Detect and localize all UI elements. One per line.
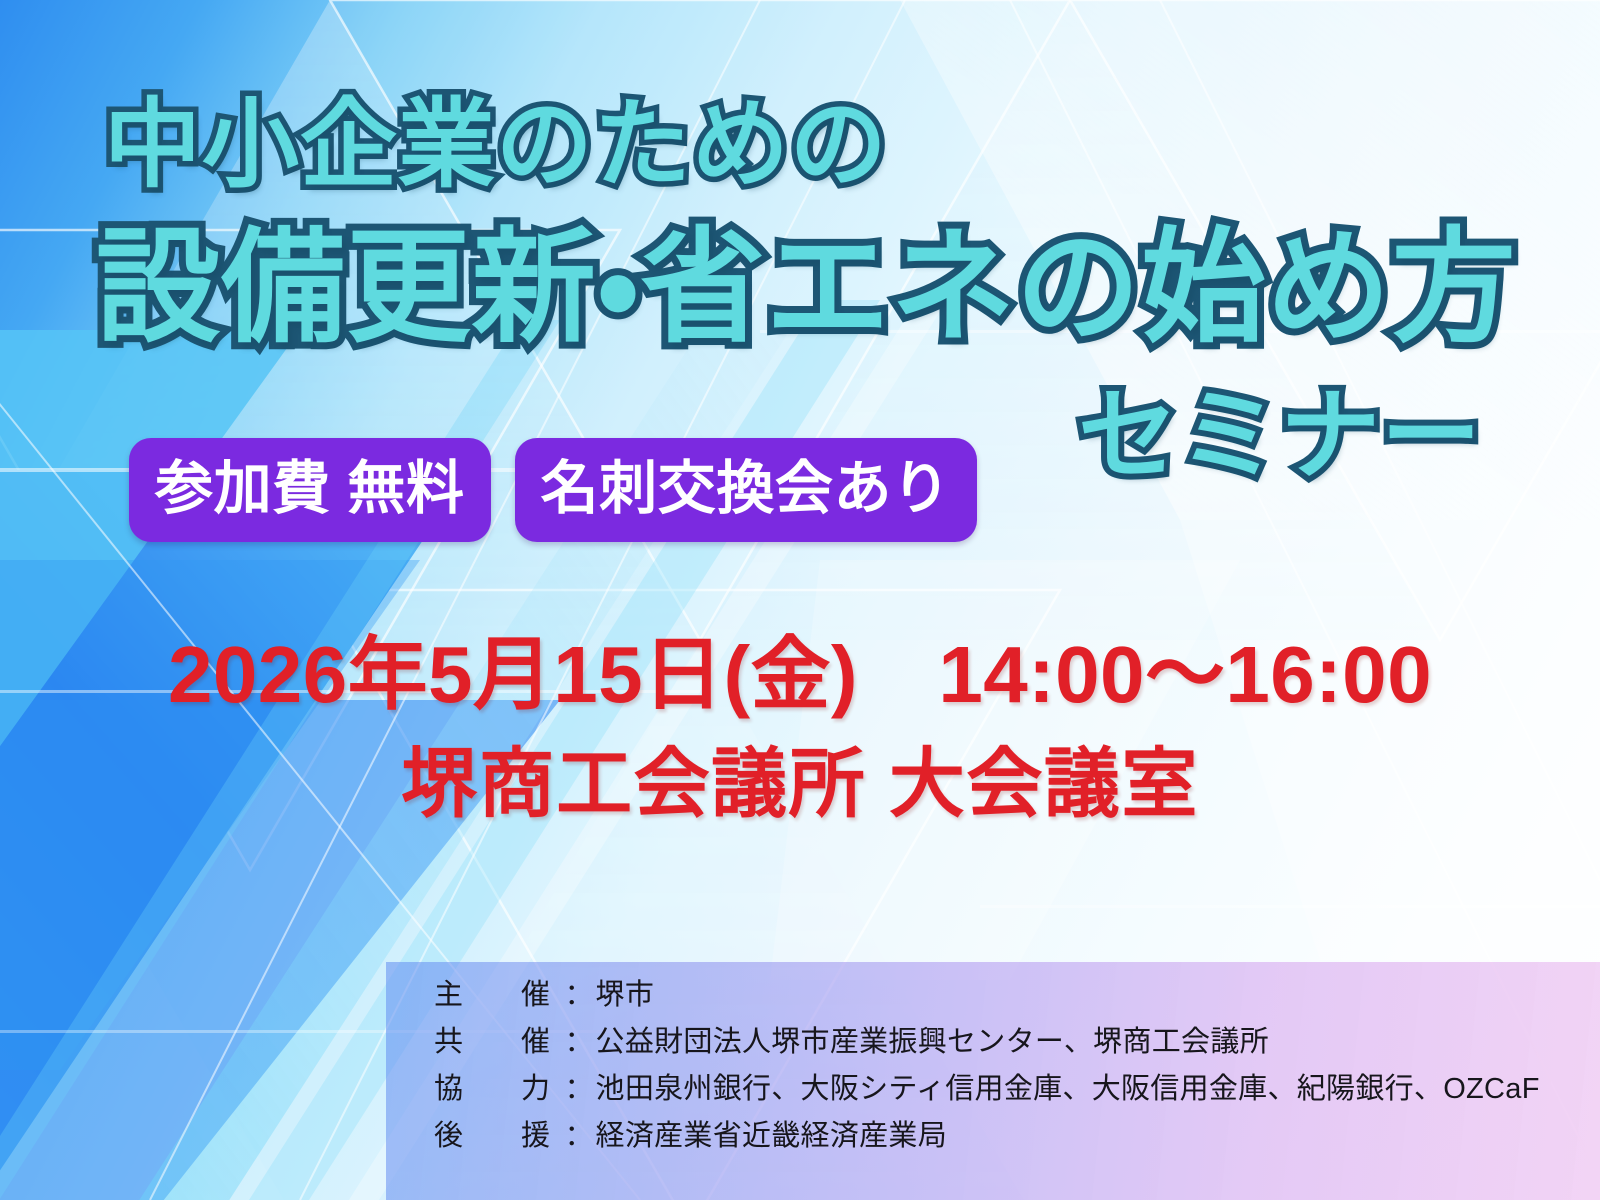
badge-fee-free: 参加費 無料 — [129, 438, 491, 542]
organizer-value: 公益財団法人堺市産業振興センター、堺商工会議所 — [596, 1019, 1269, 1066]
organizer-separator: ： — [565, 1113, 596, 1160]
organizer-label: 共 催 — [434, 1019, 565, 1066]
organizer-row-host: 主 催 ： 堺市 — [434, 972, 1594, 1019]
event-details: 2026年5月15日(金) 14:00〜16:00 堺商工会議所 大会議室 — [0, 630, 1600, 827]
title-line-3: セミナー — [1078, 386, 1482, 486]
title-line-2: 設備更新・省エネの始め方 — [96, 226, 1517, 350]
organizer-label: 主 催 — [434, 972, 565, 1019]
organizer-separator: ： — [565, 1019, 596, 1066]
title-line-1: 中小企業のための — [104, 96, 888, 193]
organizer-row-cohost: 共 催 ： 公益財団法人堺市産業振興センター、堺商工会議所 — [434, 1019, 1594, 1066]
organizer-list: 主 催 ： 堺市 共 催 ： 公益財団法人堺市産業振興センター、堺商工会議所 協… — [434, 972, 1594, 1160]
organizer-row-support: 後 援 ： 経済産業省近畿経済産業局 — [434, 1113, 1594, 1160]
seminar-poster: 中小企業のための 設備更新・省エネの始め方 セミナー 参加費 無料 名刺交換会あ… — [0, 0, 1600, 1200]
organizer-label: 協 力 — [434, 1066, 565, 1113]
event-datetime: 2026年5月15日(金) 14:00〜16:00 — [0, 630, 1600, 720]
organizer-label: 後 援 — [434, 1113, 565, 1160]
event-venue: 堺商工会議所 大会議室 — [0, 742, 1600, 827]
organizer-value: 堺市 — [596, 972, 655, 1019]
organizer-value: 経済産業省近畿経済産業局 — [596, 1113, 947, 1160]
organizer-value: 池田泉州銀行、大阪シティ信用金庫、大阪信用金庫、紀陽銀行、OZCaF — [596, 1066, 1540, 1113]
organizer-separator: ： — [565, 1066, 596, 1113]
badge-networking: 名刺交換会あり — [515, 438, 977, 542]
organizer-row-cooperation: 協 力 ： 池田泉州銀行、大阪シティ信用金庫、大阪信用金庫、紀陽銀行、OZCaF — [434, 1066, 1594, 1113]
organizer-separator: ： — [565, 972, 596, 1019]
badge-group: 参加費 無料 名刺交換会あり — [129, 438, 977, 542]
